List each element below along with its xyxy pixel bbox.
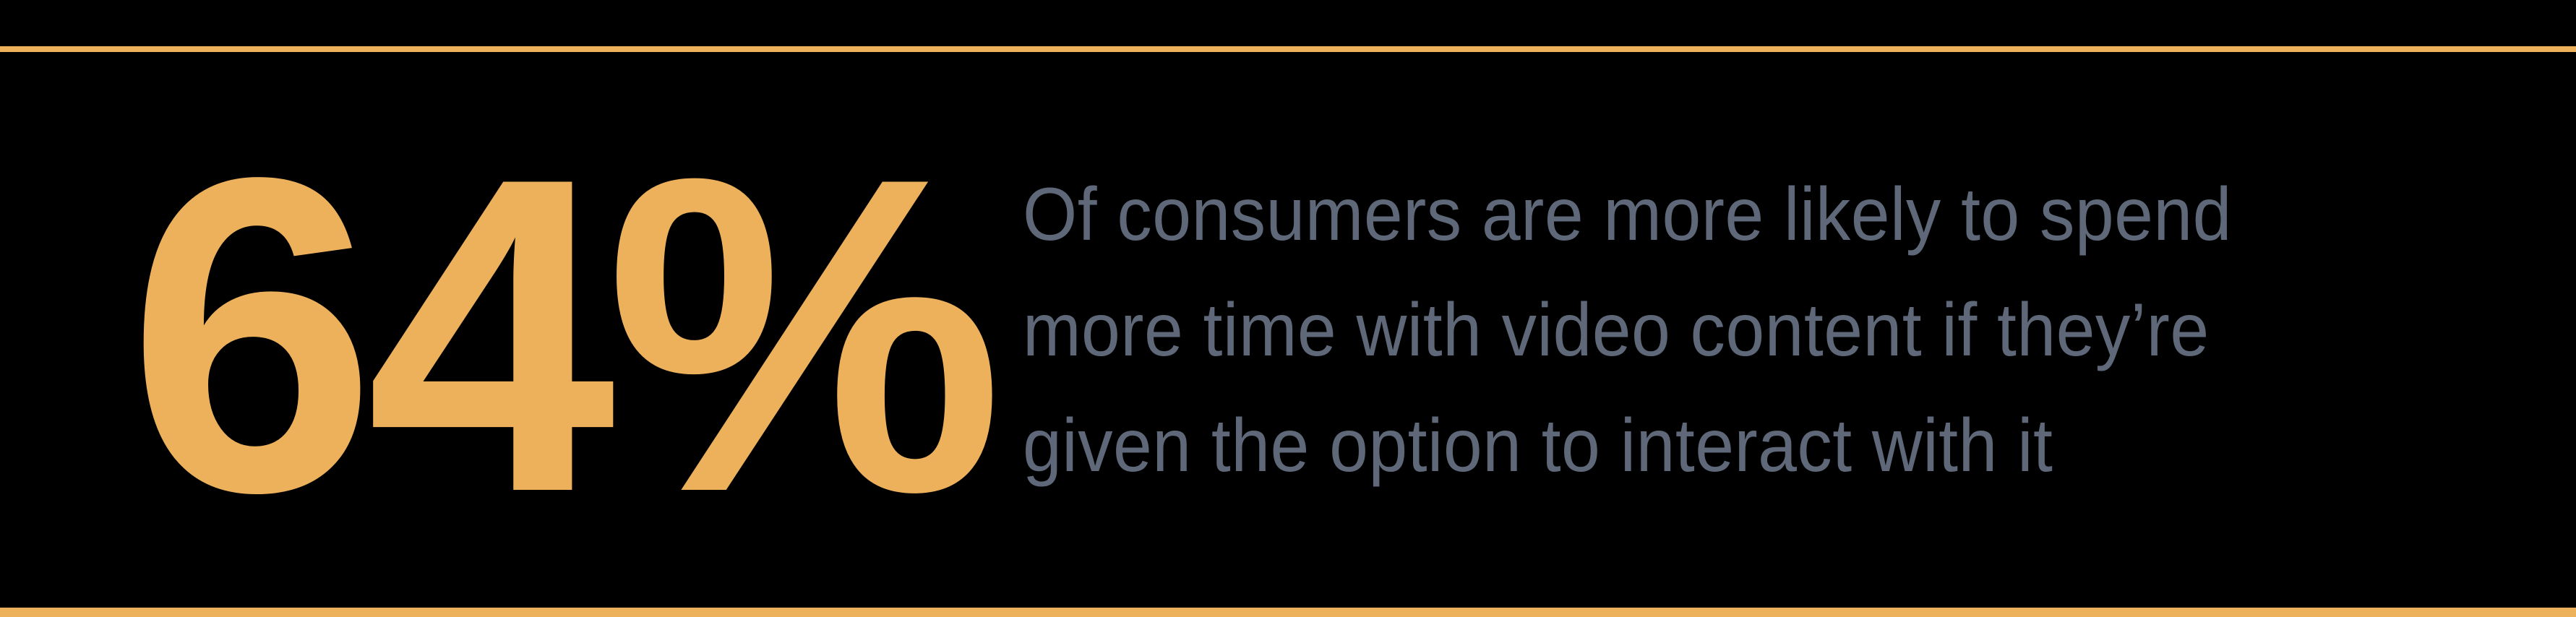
statistic-description: Of consumers are more likely to spend mo… [1023,157,2232,504]
bottom-accent-rule [0,608,2576,617]
top-accent-rule [0,46,2576,52]
description-line-3: given the option to interact with it [1023,388,2232,504]
statistic-figure: 64% [127,152,994,519]
description-line-1: Of consumers are more likely to spend [1023,157,2232,272]
description-line-2: more time with video content if they’re [1023,272,2232,388]
callout-content-row: 64% Of consumers are more likely to spen… [0,52,2576,608]
statistic-callout-banner: 64% Of consumers are more likely to spen… [0,0,2576,617]
